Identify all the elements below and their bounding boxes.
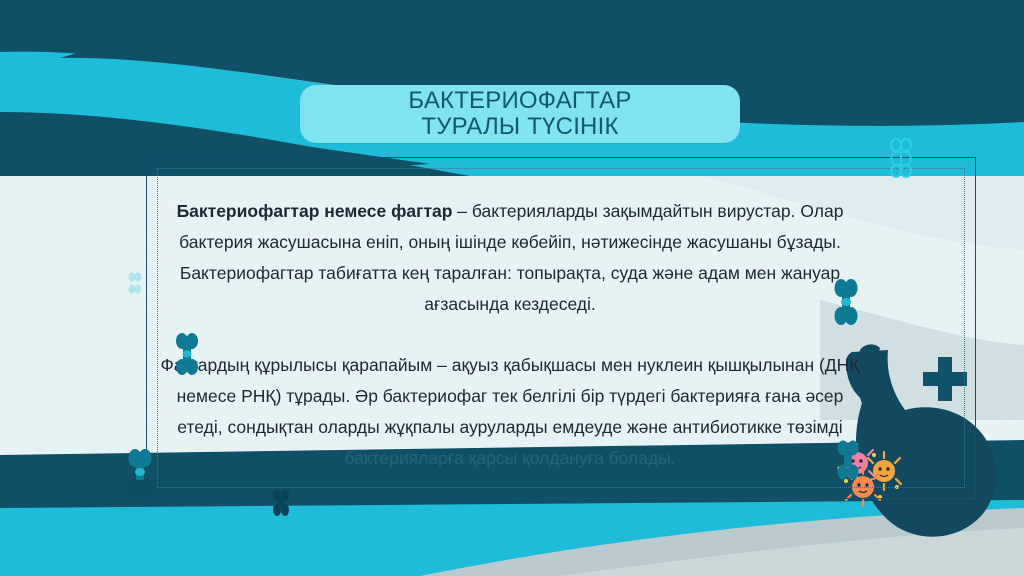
body-copy: Бактериофагтар немесе фагтар – бактериял…	[160, 196, 860, 474]
paragraph-2-tail: бактерияларға қарсы қолдануға болады.	[344, 448, 675, 468]
phage-mark-left-upper	[128, 272, 142, 294]
paragraph-1-lead: Бактериофагтар немесе фагтар	[177, 201, 453, 221]
phage-mark-left-mid	[174, 332, 200, 376]
paragraph-2-main: Фагтардың құрылысы қарапайым – ақуыз қаб…	[161, 355, 860, 437]
phage-mark-bottom-center	[272, 488, 290, 518]
phage-mark-top-right	[886, 136, 916, 180]
phage-mark-right-upper	[832, 278, 860, 326]
paragraph-1: Бактериофагтар немесе фагтар – бактериял…	[160, 196, 860, 320]
slide-title-badge: БАКТЕРИОФАГТАР ТУРАЛЫ ТҮСІНІК	[300, 85, 740, 143]
phage-mark-right-lower	[836, 440, 860, 480]
page-title: БАКТЕРИОФАГТАР ТУРАЛЫ ТҮСІНІК	[408, 88, 631, 140]
phage-mark-left-lower	[126, 448, 154, 496]
slide-canvas: БАКТЕРИОФАГТАР ТУРАЛЫ ТҮСІНІК Бактериофа…	[0, 0, 1024, 576]
paragraph-2: Фагтардың құрылысы қарапайым – ақуыз қаб…	[160, 350, 860, 474]
